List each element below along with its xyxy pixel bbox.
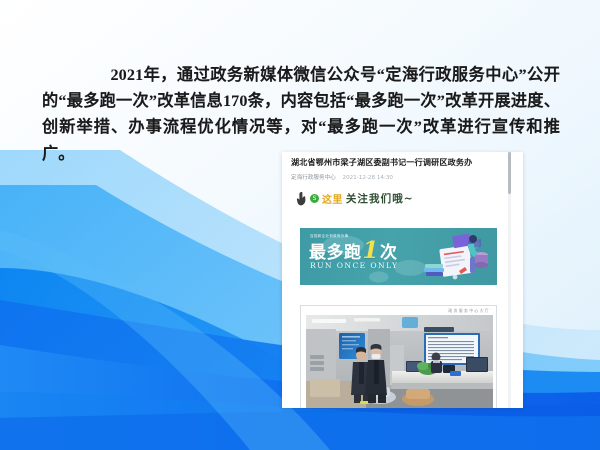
- article-meta: 定海行政服务中心 2021-12-28 14:30: [291, 173, 393, 181]
- follow-text: 关注我们哦~: [346, 191, 414, 206]
- subscribe-badge-icon: S: [310, 194, 319, 203]
- article-source: 定海行政服务中心: [291, 175, 336, 181]
- scrollbar-thumb[interactable]: [508, 152, 511, 194]
- article-timestamp: 2021-12-28 14:30: [343, 175, 393, 181]
- promo-banner: 百姓和企业到政府办事 最多跑1次 RUN ONCE ONLY: [300, 228, 497, 285]
- presentation-slide: 2021年，通过政务新媒体微信公众号“定海行政服务中心”公开的“最多跑一次”改革…: [0, 0, 600, 450]
- banner-headline-prefix: 最多跑: [309, 243, 362, 263]
- follow-highlight-text: 这里: [322, 191, 343, 206]
- banner-english-slogan: RUN ONCE ONLY: [310, 261, 398, 270]
- banner-headline-suffix: 次: [380, 243, 398, 263]
- article-photo: [306, 315, 493, 408]
- banner-headline: 最多跑1次: [309, 239, 398, 262]
- banner-headline-number: 1: [363, 237, 380, 264]
- article-photo-block: 政务服务中心大厅: [300, 305, 497, 408]
- article-content: 湖北省鄂州市梁子湖区委副书记一行调研区政务办 定海行政服务中心 2021-12-…: [282, 152, 515, 408]
- pointing-hand-icon: [296, 191, 307, 206]
- wechat-article-card[interactable]: 湖北省鄂州市梁子湖区委副书记一行调研区政务办 定海行政服务中心 2021-12-…: [282, 152, 523, 408]
- follow-prompt: S 这里 关注我们哦~: [296, 189, 496, 208]
- banner-illustration: [415, 233, 491, 281]
- article-title: 湖北省鄂州市梁子湖区委副书记一行调研区政务办: [291, 157, 505, 168]
- photo-caption: 政务服务中心大厅: [448, 308, 490, 314]
